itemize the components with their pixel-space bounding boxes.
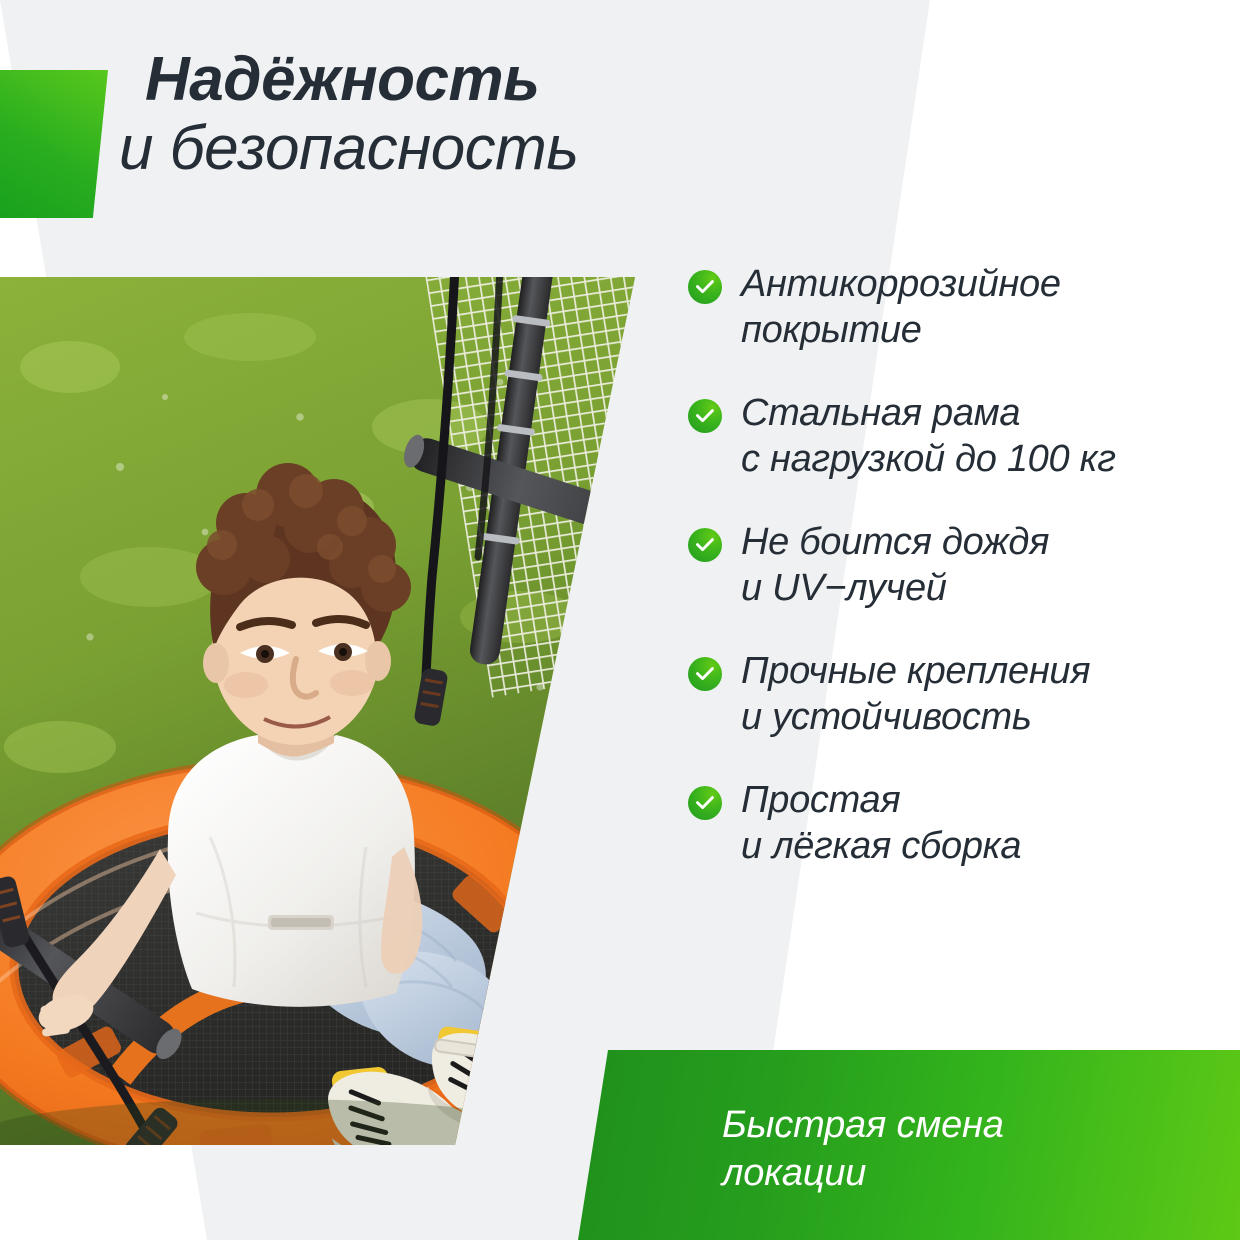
check-circle-icon: [688, 528, 722, 562]
title-line-primary: Надёжность: [145, 48, 578, 112]
infographic-canvas: Надёжность и безопасность: [0, 0, 1240, 1240]
check-glyph: [695, 278, 715, 296]
page-title: Надёжность и безопасность: [145, 48, 578, 183]
header: Надёжность и безопасность: [0, 48, 578, 218]
list-item-label: Антикоррозийное покрытие: [741, 262, 1061, 354]
list-item-label: Простая и лёгкая сборка: [741, 778, 1021, 870]
check-glyph: [695, 536, 715, 554]
check-circle-icon: [688, 399, 722, 433]
list-item: Простая и лёгкая сборка: [688, 778, 1218, 870]
list-item-label: Стальная рама с нагрузкой до 100 кг: [741, 391, 1116, 483]
check-glyph: [695, 794, 715, 812]
feature-list: Антикоррозийное покрытие Стальная рама с…: [688, 262, 1218, 870]
bottom-banner: Быстрая смена локации: [560, 1050, 1240, 1240]
check-circle-icon: [688, 270, 722, 304]
check-circle-icon: [688, 657, 722, 691]
list-item: Стальная рама с нагрузкой до 100 кг: [688, 391, 1218, 483]
bottom-banner-label: Быстрая смена локации: [722, 1102, 1004, 1198]
list-item: Антикоррозийное покрытие: [688, 262, 1218, 354]
list-item: Прочные крепления и устойчивость: [688, 649, 1218, 741]
list-item: Не боится дождя и UV−лучей: [688, 520, 1218, 612]
list-item-label: Прочные крепления и устойчивость: [741, 649, 1090, 741]
green-accent-shape: [0, 70, 108, 218]
check-glyph: [695, 407, 715, 425]
check-glyph: [695, 665, 715, 683]
check-circle-icon: [688, 786, 722, 820]
list-item-label: Не боится дождя и UV−лучей: [741, 520, 1049, 612]
title-line-secondary: и безопасность: [119, 116, 578, 183]
